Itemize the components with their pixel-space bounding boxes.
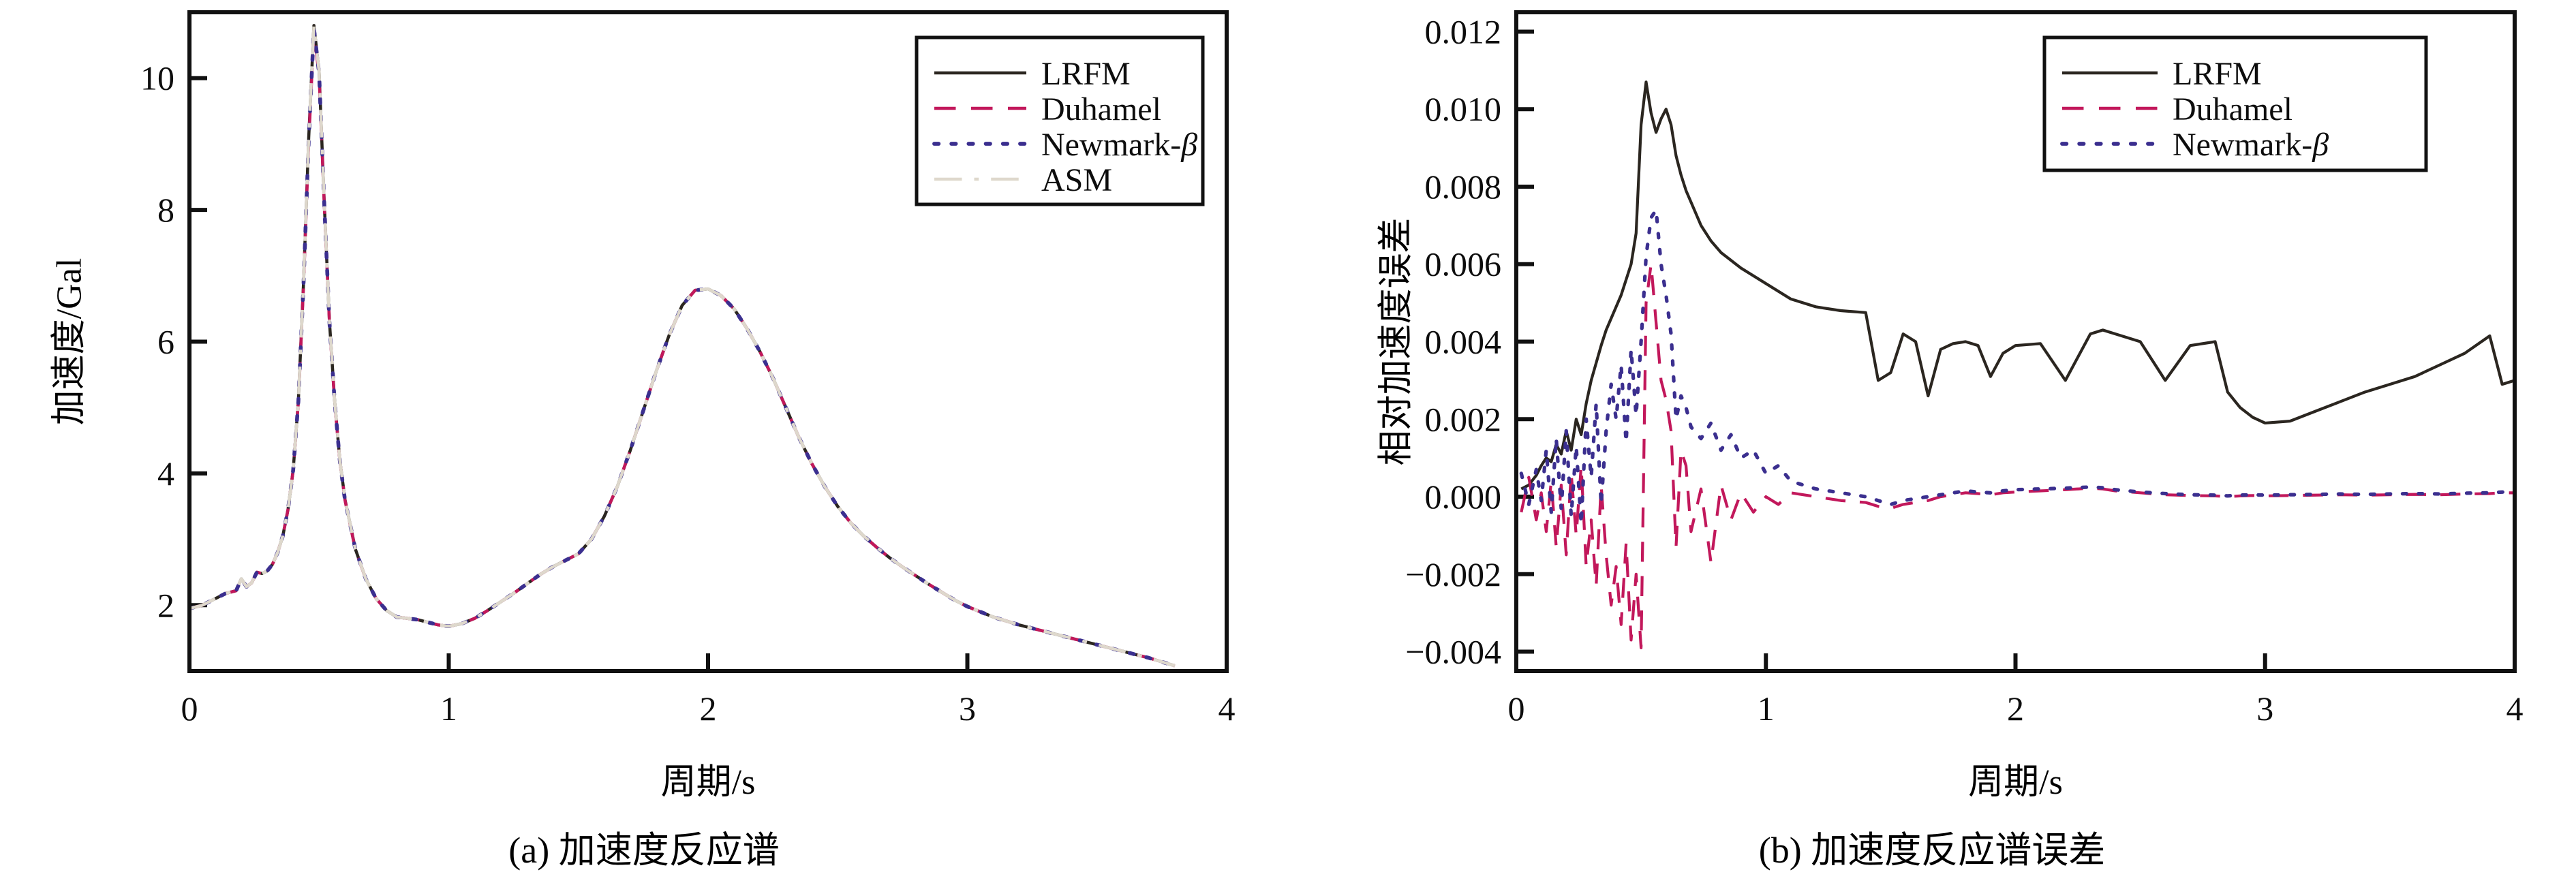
chart-b-caption: (b) 加速度反应谱误差: [1288, 820, 2576, 873]
legend-label-LRFM: LRFM: [2173, 56, 2262, 92]
y-tick-label: 0.002: [1425, 400, 1502, 438]
y-tick-label: 6: [157, 323, 174, 361]
x-tick-label: 4: [1218, 689, 1236, 722]
chart-b-canvas: 01234−0.004−0.0020.0000.0020.0040.0060.0…: [1288, 0, 2576, 722]
legend-label-ASM: ASM: [1041, 162, 1112, 198]
panel-a: 01234246810LRFMDuhamelNewmark-βASM 加速度/G…: [0, 0, 1288, 885]
chart-b-ylabel: 相对加速度误差: [1367, 217, 1418, 465]
legend-label-LRFM: LRFM: [1041, 56, 1131, 92]
x-tick-label: 2: [2007, 689, 2024, 722]
x-tick-label: 0: [1508, 689, 1525, 722]
y-tick-label: 0.006: [1425, 245, 1502, 283]
x-tick-label: 0: [181, 689, 198, 722]
legend-label-Duhamel: Duhamel: [2173, 91, 2293, 127]
chart-a-xlabel: 周期/s: [572, 753, 844, 804]
x-tick-label: 3: [2256, 689, 2273, 722]
y-tick-label: 4: [157, 454, 174, 493]
y-tick-label: 10: [140, 59, 174, 97]
chart-b-xlabel: 周期/s: [1880, 753, 2152, 804]
y-tick-label: 8: [157, 191, 174, 229]
y-tick-label: −0.002: [1405, 555, 1501, 593]
chart-a-caption: (a) 加速度反应谱: [0, 820, 1288, 873]
y-tick-label: 0.000: [1425, 478, 1502, 516]
chart-a-canvas: 01234246810LRFMDuhamelNewmark-βASM: [0, 0, 1288, 722]
y-tick-label: 0.004: [1425, 323, 1502, 361]
panel-b: 01234−0.004−0.0020.0000.0020.0040.0060.0…: [1288, 0, 2576, 885]
x-tick-label: 1: [1758, 689, 1775, 722]
x-tick-label: 4: [2506, 689, 2524, 722]
chart-a-ylabel: 加速度/Gal: [40, 258, 91, 426]
figure-root: 01234246810LRFMDuhamelNewmark-βASM 加速度/G…: [0, 0, 2576, 885]
y-tick-label: 2: [157, 586, 174, 624]
x-tick-label: 1: [440, 689, 457, 722]
x-tick-label: 2: [700, 689, 717, 722]
y-tick-label: 0.012: [1425, 12, 1502, 50]
legend-label-Newmark: Newmark-β: [2173, 127, 2329, 163]
y-tick-label: 0.008: [1425, 168, 1502, 206]
legend-label-Duhamel: Duhamel: [1041, 91, 1161, 127]
y-tick-label: −0.004: [1405, 633, 1501, 671]
legend-label-Newmark: Newmark-β: [1041, 127, 1197, 163]
x-tick-label: 3: [959, 689, 976, 722]
y-tick-label: 0.010: [1425, 90, 1502, 128]
